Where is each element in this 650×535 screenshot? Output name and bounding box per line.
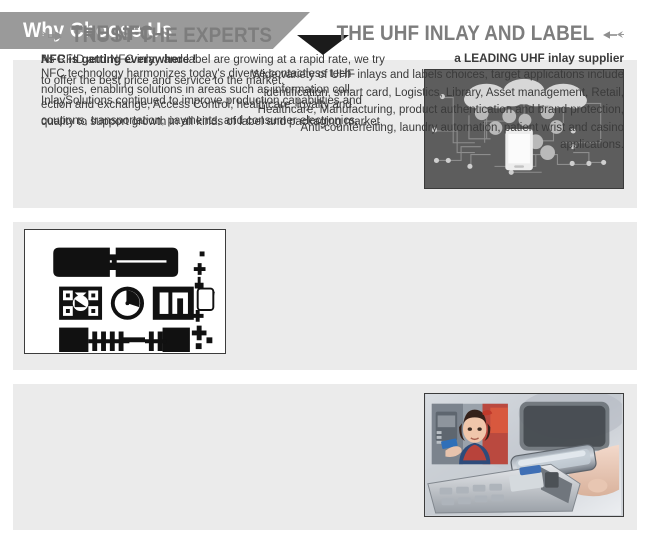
arrow-left-icon: [602, 28, 624, 40]
panel-3-subtitle: NFC is getting everywhere !: [41, 51, 411, 67]
nfc-contactless-payment-photo: [424, 393, 624, 517]
panel-3-body-line-3: ection and exchange, Access Control, hea…: [41, 98, 411, 114]
arrow-right-icon: [41, 28, 63, 40]
panel-3-body-line-4: coupons, transportation, payments, and c…: [41, 114, 411, 130]
panel-2-body-line-5: applications.: [234, 138, 624, 154]
panel-3-heading: THE NFC: [71, 22, 154, 46]
panel-3-body-line-2: nologies, enabling solutions in areas su…: [41, 83, 411, 99]
panel-3-text-block: THE NFC NFC is getting everywhere ! NFC …: [41, 22, 411, 129]
uhf-rfid-inlay-antenna-sheet: [24, 229, 226, 354]
panel-3-heading-row: THE NFC: [41, 22, 411, 46]
panel-3-body-line-1: NFC technology harmonizes today's divers…: [41, 67, 411, 83]
